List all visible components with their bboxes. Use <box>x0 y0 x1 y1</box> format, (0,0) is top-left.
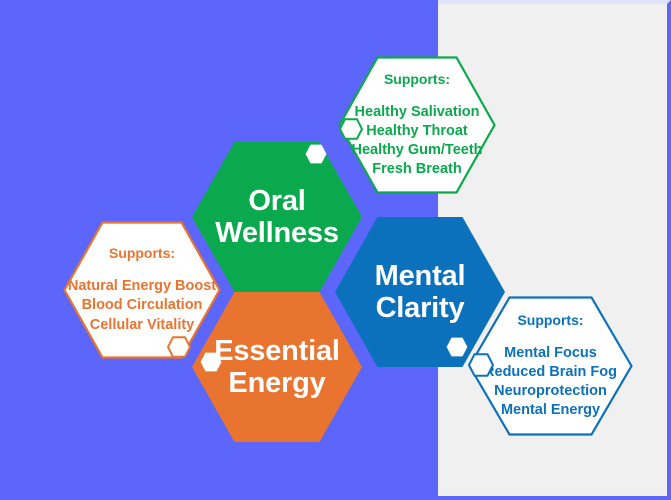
hexagon-icon <box>200 352 222 372</box>
hexagon-outline-icon <box>339 118 363 140</box>
callout-heading: Supports: <box>517 312 583 328</box>
pillar-title: Oral Wellness <box>215 185 339 250</box>
pillar-title: Mental Clarity <box>375 260 466 325</box>
hexagon-icon <box>446 337 468 357</box>
callout-heading: Supports: <box>109 245 175 261</box>
pillar-title: Essential Energy <box>214 335 340 400</box>
callout-heading: Supports: <box>384 71 450 87</box>
callout-essential-energy-supports: Supports: Natural Energy Boost Blood Cir… <box>63 221 221 359</box>
hexagon-icon <box>305 144 327 164</box>
callout-item-list: Natural Energy Boost Blood Circulation C… <box>68 277 216 334</box>
hexagon-outline-icon <box>167 336 191 358</box>
callout-item-list: Mental Focus Reduced Brain Fog Neuroprot… <box>484 344 617 421</box>
infographic-canvas: Supports: Healthy Salivation Healthy Thr… <box>0 0 671 500</box>
callout-item-list: Healthy Salivation Healthy Throat Health… <box>351 103 482 180</box>
hexagon-outline-icon <box>468 353 494 377</box>
